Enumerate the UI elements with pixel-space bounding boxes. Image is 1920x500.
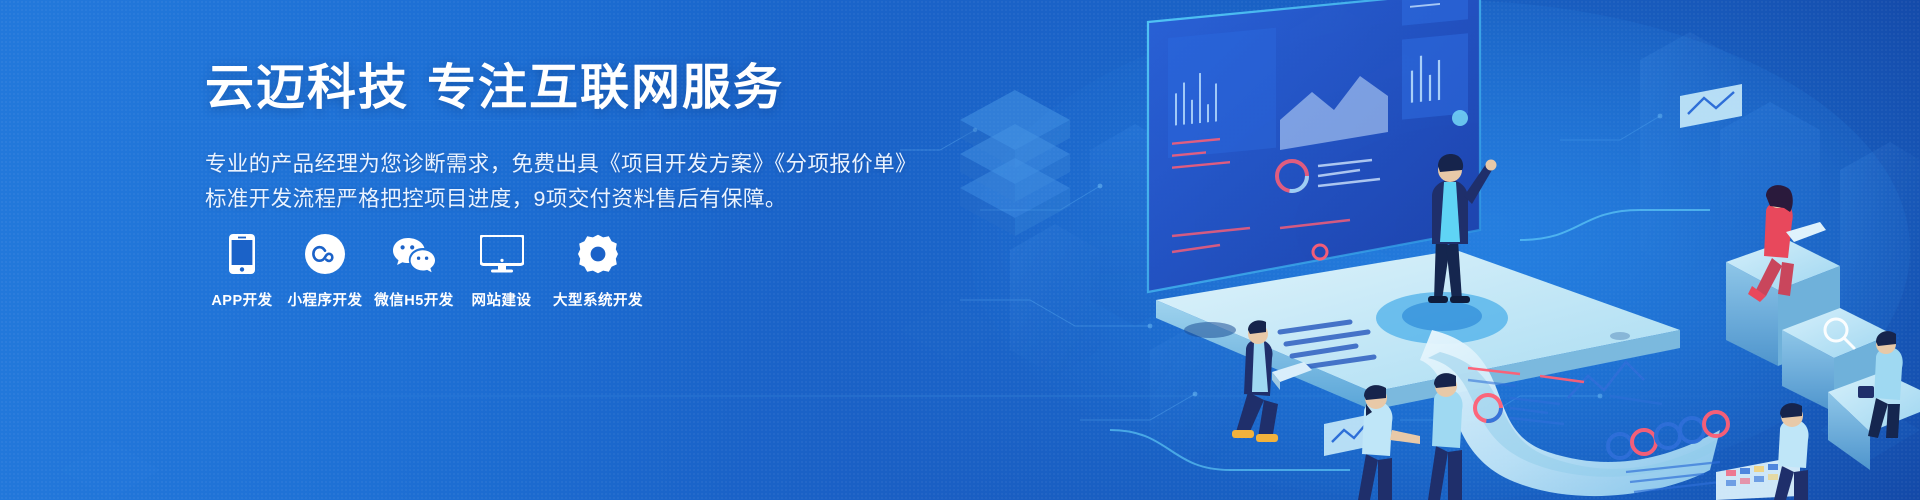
subtitle-line-2: 标准开发流程严格把控项目进度，9项交付资料售后有保障。 [205,182,905,217]
server-stack [960,90,1070,236]
isometric-data-dashboard-illustration [920,0,1920,500]
service-label: 小程序开发 [288,289,363,310]
woman-on-steps-laptop [1748,185,1826,302]
smartphone-icon [212,232,272,276]
person-bottom-right [1774,403,1809,500]
service-item-website[interactable]: 网站建设 [459,232,544,310]
data-report-ribbon [1420,330,1728,496]
floating-keyboard-card [1716,456,1800,500]
steps-platform [1726,240,1920,470]
monitor-icon [472,232,532,276]
page-title: 云迈科技专注互联网服务 [205,62,905,115]
gear-icon [568,232,628,276]
floating-chart-card-1 [1324,414,1372,456]
service-item-app[interactable]: APP开发 [203,232,281,310]
miniprogram-icon [295,232,355,276]
floating-chart-card-2 [1680,84,1742,128]
service-item-large-system[interactable]: 大型系统开发 [544,232,652,310]
sitting-person-laptop [1232,320,1312,442]
headline-tagline: 专注互联网服务 [427,61,784,115]
banner-copy: 云迈科技专注互联网服务 专业的产品经理为您诊断需求，免费出具《项目开发方案》《分… [205,62,905,217]
service-list: APP开发 小程序开发 [203,232,652,310]
dashboard-screen [1148,0,1480,292]
magnifier-icon [1825,319,1854,348]
smartphone-platform [1156,250,1680,410]
service-item-wechat-h5[interactable]: 微信H5开发 [369,232,459,310]
service-item-miniprogram[interactable]: 小程序开发 [281,232,369,310]
wechat-icon [384,232,444,276]
glow-connector-line [1110,210,1710,470]
headline-brand: 云迈科技 [205,61,409,115]
hero-banner: 云迈科技专注互联网服务 专业的产品经理为您诊断需求，免费出具《项目开发方案》《分… [0,0,1920,500]
subtitle-line-1: 专业的产品经理为您诊断需求，免费出具《项目开发方案》《分项报价单》 [205,147,905,182]
service-label: 微信H5开发 [374,289,454,310]
standing-person-pointing [1428,154,1497,303]
walking-person-briefcase [1858,331,1903,438]
service-label: 网站建设 [472,289,532,310]
two-people-talking [1358,373,1463,500]
service-label: 大型系统开发 [553,289,643,310]
service-label: APP开发 [211,289,272,310]
